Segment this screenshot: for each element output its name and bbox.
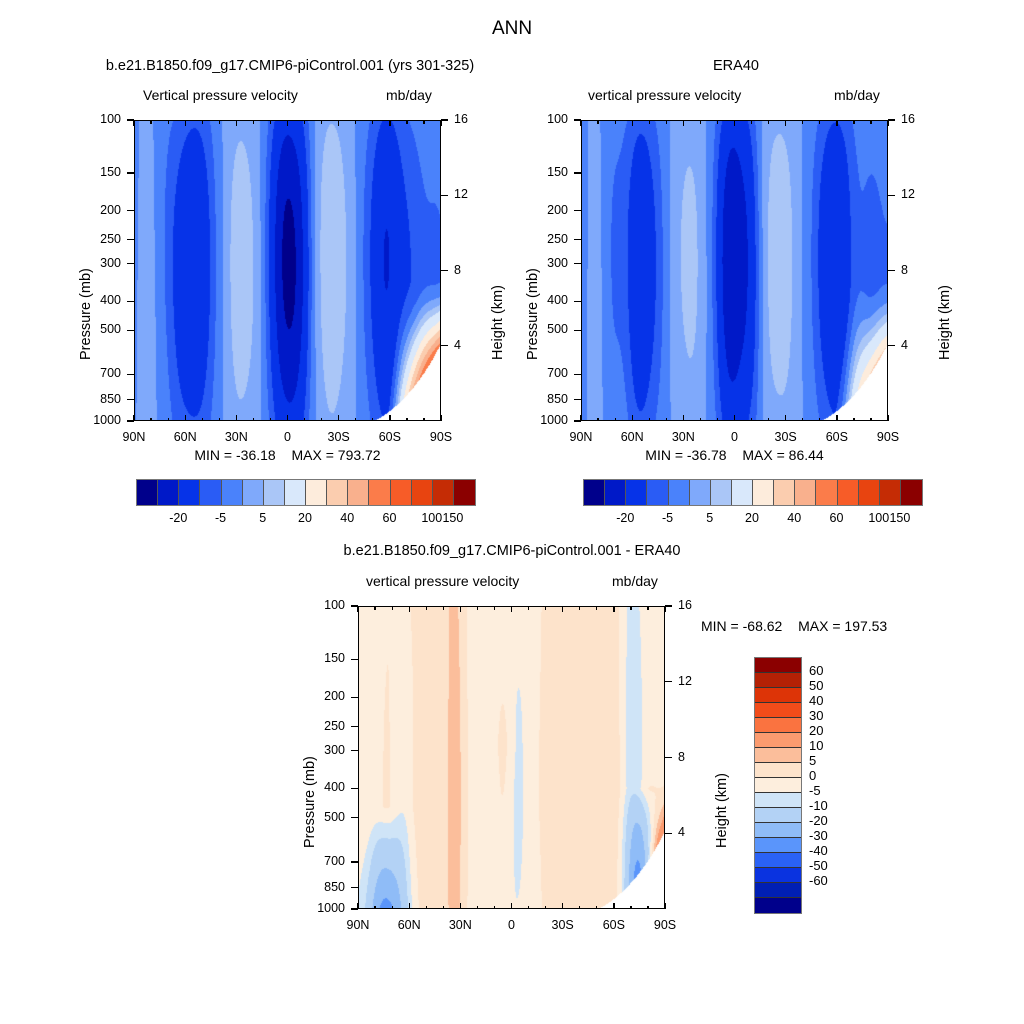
colorbar-tick-label: 50 [809, 678, 823, 693]
colorbar-swatch [755, 898, 801, 913]
x-tick-label: 90S [430, 430, 452, 444]
y-tick [574, 172, 581, 173]
colorbar-swatch [774, 480, 795, 505]
colorbar-swatch [732, 480, 753, 505]
x-tick [683, 120, 684, 126]
contour-plot-obs[interactable] [581, 120, 888, 421]
colorbar-swatch [647, 480, 668, 505]
y-tick-label: 400 [547, 293, 568, 307]
x-tick-label: 0 [284, 430, 291, 444]
colorbar-tick-label: -20 [809, 813, 828, 828]
x-tick [836, 120, 837, 126]
y2-tick-label: 16 [901, 112, 915, 126]
x-tick-label: 90N [570, 430, 593, 444]
x-tick-minor [202, 418, 203, 422]
x-tick [236, 415, 237, 421]
colorbar-swatch [690, 480, 711, 505]
minmax-diff: MIN = -68.62 MAX = 197.53 [701, 618, 887, 634]
colorbar-swatch [669, 480, 690, 505]
x-tick [389, 120, 390, 126]
x-tick-minor [406, 418, 407, 422]
x-tick-minor [528, 606, 529, 610]
x-tick-minor [768, 418, 769, 422]
x-tick-minor [219, 418, 220, 422]
x-tick-minor [579, 606, 580, 610]
x-tick-minor [304, 120, 305, 124]
colorbar-tick-label: 5 [809, 753, 816, 768]
y-tick [351, 659, 358, 660]
colorbar-swatch [584, 480, 605, 505]
x-tick-label: 30S [552, 918, 574, 932]
x-tick-minor [700, 120, 701, 124]
x-tick-label: 0 [731, 430, 738, 444]
x-tick-minor [768, 120, 769, 124]
colorbar-swatch [327, 480, 348, 505]
colorbar-swatch [369, 480, 390, 505]
x-tick-label: 90S [654, 918, 676, 932]
x-tick [632, 415, 633, 421]
colorbar-tick-label: 5 [259, 511, 266, 525]
x-tick-minor [219, 120, 220, 124]
x-tick-minor [494, 906, 495, 910]
x-tick-minor [150, 120, 151, 124]
x-tick-minor [168, 418, 169, 422]
y2-axis-label-diff: Height (km) [714, 773, 730, 848]
colorbar-tick-label: 20 [298, 511, 312, 525]
x-tick-minor [494, 606, 495, 610]
y2-tick-label: 4 [454, 338, 461, 352]
colorbar-tick-label: 60 [830, 511, 844, 525]
colorbar-tick-label: 20 [745, 511, 759, 525]
x-tick-minor [355, 120, 356, 124]
x-tick [440, 415, 441, 421]
y2-tick-label: 16 [678, 598, 692, 612]
max-value-model: MAX = 793.72 [291, 447, 380, 463]
colorbar-tick-label: 40 [787, 511, 801, 525]
x-tick-label: 0 [508, 918, 515, 932]
colorbar-tick-label: -40 [809, 843, 828, 858]
x-tick-minor [355, 418, 356, 422]
x-tick-minor [253, 418, 254, 422]
minmax-model: MIN = -36.18 MAX = 793.72 [134, 447, 441, 463]
y2-tick-label: 8 [678, 750, 685, 764]
x-tick-minor [372, 418, 373, 422]
panel-title-diff: b.e21.B1850.f09_g17.CMIP6-piControl.001 … [287, 543, 737, 559]
colorbar-swatch [605, 480, 626, 505]
colorbar-swatch [179, 480, 200, 505]
y2-tick [441, 345, 448, 346]
x-tick [133, 120, 134, 126]
y2-tick [665, 757, 672, 758]
y2-tick-label: 8 [901, 263, 908, 277]
y-tick-label: 1000 [540, 413, 568, 427]
colorbar-tick-label: 5 [706, 511, 713, 525]
x-tick-label: 60N [174, 430, 197, 444]
colorbar-swatch [859, 480, 880, 505]
x-tick [357, 606, 358, 612]
colorbar-tick-label: -50 [809, 858, 828, 873]
x-tick [338, 415, 339, 421]
y-tick-label: 700 [324, 854, 345, 868]
x-tick-minor [802, 418, 803, 422]
y-tick-label: 850 [100, 392, 121, 406]
x-tick-minor [819, 418, 820, 422]
x-tick-label: 30S [775, 430, 797, 444]
x-tick-minor [666, 418, 667, 422]
x-tick-minor [477, 906, 478, 910]
colorbar-tick-label: 20 [809, 723, 823, 738]
y-tick-label: 100 [324, 598, 345, 612]
x-tick-minor [443, 606, 444, 610]
y-tick-label: 400 [324, 780, 345, 794]
colorbar-tick-label: -5 [662, 511, 673, 525]
y2-tick [888, 195, 895, 196]
y-tick [127, 330, 134, 331]
x-tick-minor [649, 120, 650, 124]
x-tick-minor [597, 120, 598, 124]
colorbar-swatch [838, 480, 859, 505]
colorbar-swatch [391, 480, 412, 505]
colorbar-swatch [755, 658, 801, 673]
x-tick-minor [751, 418, 752, 422]
y-tick [351, 788, 358, 789]
y2-tick-label: 4 [678, 825, 685, 839]
colorbar-tick-label: 10 [809, 738, 823, 753]
max-value-diff: MAX = 197.53 [798, 618, 887, 634]
x-tick-minor [423, 120, 424, 124]
y-tick-label: 1000 [93, 413, 121, 427]
x-tick [357, 903, 358, 909]
x-tick-minor [372, 120, 373, 124]
y-tick-label: 850 [547, 392, 568, 406]
y2-tick-label: 8 [454, 263, 461, 277]
y2-tick [665, 833, 672, 834]
x-tick [389, 415, 390, 421]
y-tick [574, 330, 581, 331]
colorbar-swatch [626, 480, 647, 505]
colorbar-swatch [137, 480, 158, 505]
y2-tick [665, 605, 672, 606]
x-tick-label: 60N [398, 918, 421, 932]
x-tick-minor [426, 606, 427, 610]
x-tick-minor [751, 120, 752, 124]
x-tick [562, 606, 563, 612]
colorbar-swatch [222, 480, 243, 505]
y-tick-label: 150 [547, 165, 568, 179]
contour-plot-diff[interactable] [358, 606, 665, 909]
y-tick [351, 817, 358, 818]
y-tick-label: 400 [100, 293, 121, 307]
x-tick [185, 415, 186, 421]
y-tick [574, 374, 581, 375]
colorbar-tick-label: 60 [383, 511, 397, 525]
colorbar-tick-label: -5 [215, 511, 226, 525]
x-tick [785, 415, 786, 421]
x-tick-minor [392, 606, 393, 610]
x-tick [613, 606, 614, 612]
x-tick [664, 606, 665, 612]
x-tick-minor [426, 906, 427, 910]
x-tick-minor [374, 906, 375, 910]
max-value-obs: MAX = 86.44 [742, 447, 823, 463]
x-tick-minor [270, 418, 271, 422]
contour-plot-model[interactable] [134, 120, 441, 421]
y-tick-label: 150 [100, 165, 121, 179]
x-tick-minor [870, 120, 871, 124]
y-tick-label: 500 [547, 322, 568, 336]
x-tick [338, 120, 339, 126]
colorbar-tick-label: -5 [809, 783, 821, 798]
colorbar-swatch [711, 480, 732, 505]
colorbar-tick-label: 60 [809, 663, 823, 678]
x-tick [287, 120, 288, 126]
x-tick-minor [253, 120, 254, 124]
colorbar-swatch [755, 733, 801, 748]
x-tick [409, 903, 410, 909]
x-tick-minor [802, 120, 803, 124]
x-tick-minor [853, 418, 854, 422]
y-tick-label: 700 [100, 366, 121, 380]
colorbar-tick-label: 0 [809, 768, 816, 783]
x-tick [511, 903, 512, 909]
x-tick-label: 30S [328, 430, 350, 444]
y2-tick-label: 12 [678, 674, 692, 688]
x-tick [460, 606, 461, 612]
colorbar-swatch [433, 480, 454, 505]
x-tick-minor [647, 906, 648, 910]
min-value-diff: MIN = -68.62 [701, 618, 782, 634]
x-tick-minor [443, 906, 444, 910]
x-tick-minor [596, 906, 597, 910]
colorbar-swatch [158, 480, 179, 505]
y-axis-label-obs: Pressure (mb) [525, 268, 541, 360]
y-tick [351, 750, 358, 751]
y2-axis-label-model: Height (km) [490, 285, 506, 360]
contour-canvas-obs [582, 121, 888, 421]
y-tick-label: 500 [324, 810, 345, 824]
y-tick-label: 250 [100, 232, 121, 246]
y-tick-label: 150 [324, 651, 345, 665]
colorbar-tick-label: 100 [868, 511, 889, 525]
x-tick-minor [202, 120, 203, 124]
x-tick [185, 120, 186, 126]
y2-tick [888, 345, 895, 346]
x-tick-label: 30N [225, 430, 248, 444]
y-tick-label: 300 [547, 256, 568, 270]
colorbar-tick-label: 150 [442, 511, 463, 525]
colorbar-swatch [755, 793, 801, 808]
contour-canvas-diff [359, 607, 665, 909]
x-tick-minor [579, 906, 580, 910]
colorbar-tick-label: -20 [169, 511, 187, 525]
y2-tick [441, 119, 448, 120]
colorbar-tick-label: -20 [616, 511, 634, 525]
x-tick-minor [423, 418, 424, 422]
x-tick-minor [870, 418, 871, 422]
y-tick-label: 250 [324, 719, 345, 733]
y-tick [127, 263, 134, 264]
colorbar-swatch [880, 480, 901, 505]
x-tick-minor [321, 418, 322, 422]
x-tick [785, 120, 786, 126]
colorbar-swatch [285, 480, 306, 505]
colorbar-swatch [454, 480, 475, 505]
x-tick-label: 60S [826, 430, 848, 444]
colorbar-diff[interactable] [754, 657, 802, 914]
panel-field-label-obs: vertical pressure velocity [588, 87, 741, 103]
colorbar-swatch [755, 883, 801, 898]
y-tick [351, 726, 358, 727]
colorbar-swatch [348, 480, 369, 505]
colorbar-swatch [755, 703, 801, 718]
y2-tick-label: 16 [454, 112, 468, 126]
x-tick-minor [270, 120, 271, 124]
y-tick-label: 250 [547, 232, 568, 246]
y2-tick-label: 12 [454, 187, 468, 201]
x-tick [734, 415, 735, 421]
y2-tick [888, 119, 895, 120]
y-tick [574, 399, 581, 400]
x-tick [562, 903, 563, 909]
y-tick-label: 100 [100, 112, 121, 126]
y-tick-label: 500 [100, 322, 121, 336]
y2-tick [888, 270, 895, 271]
colorbar-model[interactable] [136, 479, 476, 506]
colorbar-swatch [755, 763, 801, 778]
x-tick-minor [819, 120, 820, 124]
panel-field-label-diff: vertical pressure velocity [366, 573, 519, 589]
y-tick [574, 210, 581, 211]
x-tick [632, 120, 633, 126]
y-tick-label: 200 [100, 203, 121, 217]
y-tick-label: 700 [547, 366, 568, 380]
x-tick [734, 120, 735, 126]
y2-tick [441, 270, 448, 271]
colorbar-swatch [755, 853, 801, 868]
panel-units-obs: mb/day [834, 87, 880, 103]
x-tick-minor [853, 120, 854, 124]
y-tick [127, 399, 134, 400]
x-tick-label: 60N [621, 430, 644, 444]
x-tick-label: 30N [672, 430, 695, 444]
x-tick-minor [392, 906, 393, 910]
panel-units-diff: mb/day [612, 573, 658, 589]
colorbar-swatch [755, 823, 801, 838]
y2-tick [441, 195, 448, 196]
y-tick [351, 861, 358, 862]
x-tick-label: 30N [449, 918, 472, 932]
x-tick [409, 606, 410, 612]
x-tick [887, 120, 888, 126]
x-tick-label: 60S [379, 430, 401, 444]
y-tick-label: 100 [547, 112, 568, 126]
x-tick-minor [630, 906, 631, 910]
colorbar-swatch [755, 673, 801, 688]
colorbar-swatch [412, 480, 433, 505]
x-tick-minor [666, 120, 667, 124]
colorbar-swatch [816, 480, 837, 505]
y-tick [127, 301, 134, 302]
y-axis-label-diff: Pressure (mb) [302, 756, 318, 848]
x-tick [511, 606, 512, 612]
y-tick [574, 301, 581, 302]
y-tick [127, 374, 134, 375]
colorbar-swatch [755, 748, 801, 763]
x-tick-minor [630, 606, 631, 610]
colorbar-swatch [755, 778, 801, 793]
colorbar-swatch [755, 688, 801, 703]
x-tick [580, 415, 581, 421]
y-tick [574, 239, 581, 240]
x-tick-label: 60S [603, 918, 625, 932]
x-tick-label: 90N [347, 918, 370, 932]
x-tick [440, 120, 441, 126]
y-tick-label: 850 [324, 880, 345, 894]
colorbar-swatch [755, 718, 801, 733]
x-tick-minor [647, 606, 648, 610]
x-tick-minor [596, 606, 597, 610]
colorbar-tick-label: 150 [889, 511, 910, 525]
colorbar-swatch [755, 868, 801, 883]
colorbar-tick-label: -60 [809, 873, 828, 888]
x-tick-minor [321, 120, 322, 124]
colorbar-swatch [306, 480, 327, 505]
x-tick-label: 90S [877, 430, 899, 444]
contour-canvas-model [135, 121, 441, 421]
colorbar-tick-label: -10 [809, 798, 828, 813]
panel-field-label-model: Vertical pressure velocity [143, 87, 298, 103]
colorbar-swatch [264, 480, 285, 505]
y-tick [127, 210, 134, 211]
x-tick-minor [717, 120, 718, 124]
y2-tick-label: 12 [901, 187, 915, 201]
x-tick [613, 903, 614, 909]
y-tick [351, 697, 358, 698]
x-tick-minor [545, 906, 546, 910]
panel-units-model: mb/day [386, 87, 432, 103]
colorbar-swatch [901, 480, 922, 505]
x-tick [664, 903, 665, 909]
x-tick-minor [700, 418, 701, 422]
y-tick [127, 239, 134, 240]
x-tick-minor [649, 418, 650, 422]
colorbar-swatch [753, 480, 774, 505]
x-tick [236, 120, 237, 126]
x-tick-minor [528, 906, 529, 910]
y-axis-label-model: Pressure (mb) [78, 268, 94, 360]
x-tick-minor [168, 120, 169, 124]
colorbar-tick-label: 40 [809, 693, 823, 708]
y-tick-label: 200 [547, 203, 568, 217]
y2-tick-label: 4 [901, 338, 908, 352]
y-tick-label: 200 [324, 689, 345, 703]
panel-title-model: b.e21.B1850.f09_g17.CMIP6-piControl.001 … [65, 58, 515, 74]
x-tick-label: 90N [123, 430, 146, 444]
x-tick-minor [150, 418, 151, 422]
colorbar-swatch [243, 480, 264, 505]
x-tick [836, 415, 837, 421]
x-tick-minor [615, 418, 616, 422]
x-tick-minor [597, 418, 598, 422]
minmax-obs: MIN = -36.78 MAX = 86.44 [581, 447, 888, 463]
colorbar-tick-label: 40 [340, 511, 354, 525]
colorbar-tick-label: 30 [809, 708, 823, 723]
colorbar-swatch [200, 480, 221, 505]
colorbar-swatch [755, 808, 801, 823]
min-value-obs: MIN = -36.78 [645, 447, 726, 463]
colorbar-obs[interactable] [583, 479, 923, 506]
x-tick [580, 120, 581, 126]
